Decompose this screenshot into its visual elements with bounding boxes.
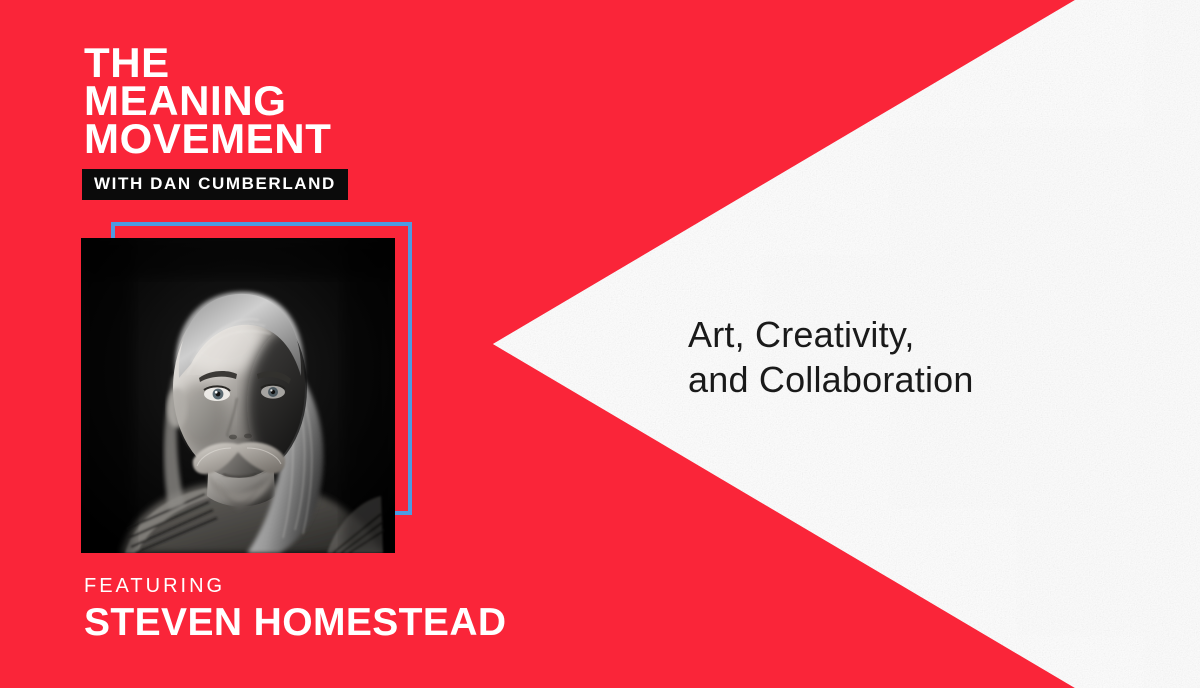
guest-portrait xyxy=(81,238,395,553)
host-badge-label: WITH DAN CUMBERLAND xyxy=(94,174,336,193)
portrait-image xyxy=(81,238,395,553)
episode-title-line-2: and Collaboration xyxy=(688,357,1108,402)
episode-title-line-1: Art, Creativity, xyxy=(688,312,1108,357)
featuring-block: FEATURING STEVEN HOMESTEAD xyxy=(84,575,644,645)
podcast-cover-art: THE MEANING MOVEMENT WITH DAN CUMBERLAND xyxy=(0,0,1200,688)
episode-title: Art, Creativity, and Collaboration xyxy=(688,312,1108,402)
show-title-line-3: MOVEMENT xyxy=(84,120,484,158)
featuring-label: FEATURING xyxy=(84,575,644,598)
host-badge: WITH DAN CUMBERLAND xyxy=(82,169,348,200)
show-title: THE MEANING MOVEMENT xyxy=(84,44,484,158)
guest-name: STEVEN HOMESTEAD xyxy=(84,601,644,645)
